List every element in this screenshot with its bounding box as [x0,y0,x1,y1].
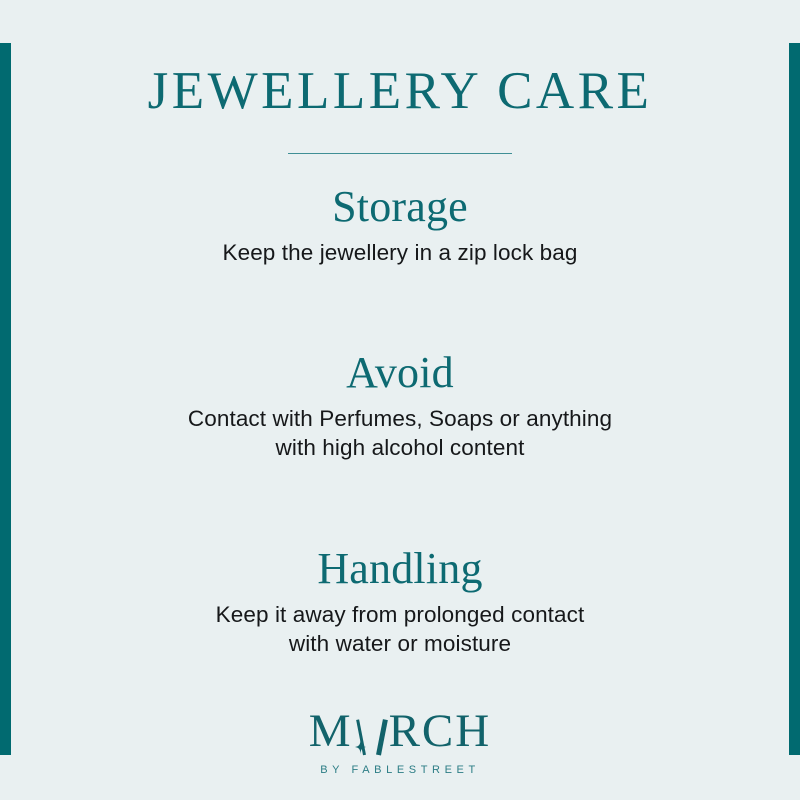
section-body-handling: Keep it away from prolonged contact with… [0,601,800,659]
section-heading-avoid: Avoid [0,347,800,399]
brand-letter-a [354,719,388,755]
brand-wordmark-after: RCH [389,708,492,755]
letter-a-right-stroke [376,719,388,755]
title-divider [288,153,512,154]
page-title: JEWELLERY CARE [148,0,653,120]
section-body-avoid: Contact with Perfumes, Soaps or anything… [0,405,800,463]
care-section-storage: Storage Keep the jewellery in a zip lock… [0,181,800,268]
brand-wordmark: M RCH [309,719,491,755]
section-heading-storage: Storage [0,181,800,233]
jewellery-care-card: JEWELLERY CARE Storage Keep the jeweller… [0,0,800,800]
care-sections-list: Storage Keep the jewellery in a zip lock… [0,181,800,659]
section-heading-handling: Handling [0,543,800,595]
brand-wordmark-before: M [309,708,353,755]
care-section-handling: Handling Keep it away from prolonged con… [0,543,800,659]
brand-logo: M RCH BY FABLESTREET [0,719,800,776]
card-content: JEWELLERY CARE Storage Keep the jeweller… [0,0,800,800]
sparkle-icon [355,740,366,754]
section-body-storage: Keep the jewellery in a zip lock bag [0,239,800,268]
brand-tagline: BY FABLESTREET [320,764,480,776]
care-section-avoid: Avoid Contact with Perfumes, Soaps or an… [0,347,800,463]
